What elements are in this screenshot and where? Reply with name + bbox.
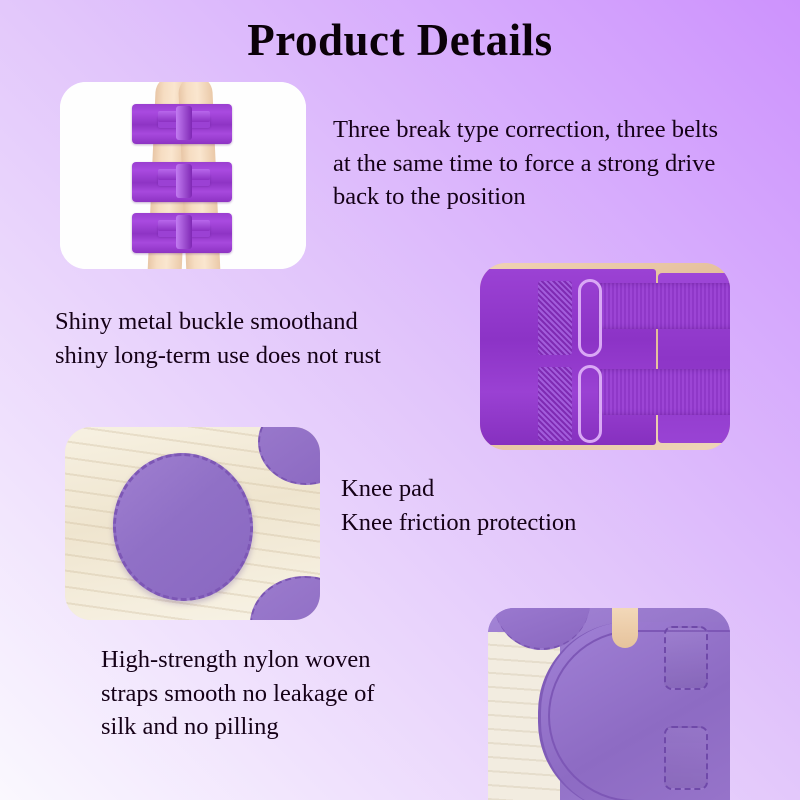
feature-line: Knee pad	[341, 472, 576, 506]
feature-line: Knee friction protection	[341, 506, 576, 540]
feature-line: High-strength nylon woven	[101, 643, 375, 677]
metal-buckle-upper	[578, 279, 602, 357]
velcro-patch-upper	[538, 281, 572, 355]
feature-line: silk and no pilling	[101, 710, 375, 744]
nylon-strap-upper	[598, 283, 730, 329]
metal-buckle-lower	[578, 365, 602, 443]
knee-pad-detail-photo	[488, 608, 730, 800]
feature-line: Shiny metal buckle smoothand	[55, 305, 381, 339]
infographic-canvas: Product Details Three break type correct…	[0, 0, 800, 800]
knee-pad-photo	[65, 427, 320, 620]
feature-line: shiny long-term use does not rust	[55, 339, 381, 373]
feature-line: straps smooth no leakage of	[101, 677, 375, 711]
strap-loop-lower	[664, 726, 708, 790]
feature-text-knee-pad: Knee pad Knee friction protection	[341, 472, 576, 539]
page-title: Product Details	[0, 14, 800, 66]
correction-belt-lower	[132, 213, 232, 253]
correction-belt-middle	[132, 162, 232, 202]
feature-text-metal-buckle: Shiny metal buckle smoothand shiny long-…	[55, 305, 381, 372]
feature-line: Three break type correction, three belts	[333, 113, 718, 147]
strap-loop-upper	[664, 626, 708, 690]
velcro-patch-lower	[538, 367, 572, 441]
nylon-strap-lower	[598, 369, 730, 415]
feature-text-nylon-straps: High-strength nylon woven straps smooth …	[101, 643, 375, 744]
legs-with-three-belts-photo	[60, 82, 306, 269]
feature-line: back to the position	[333, 180, 718, 214]
skin-gap	[612, 608, 638, 648]
feature-text-three-belt-correction: Three break type correction, three belts…	[333, 113, 718, 214]
correction-belt-upper	[132, 104, 232, 144]
buckle-closeup-photo	[480, 263, 730, 450]
feature-line: at the same time to force a strong drive	[333, 147, 718, 181]
